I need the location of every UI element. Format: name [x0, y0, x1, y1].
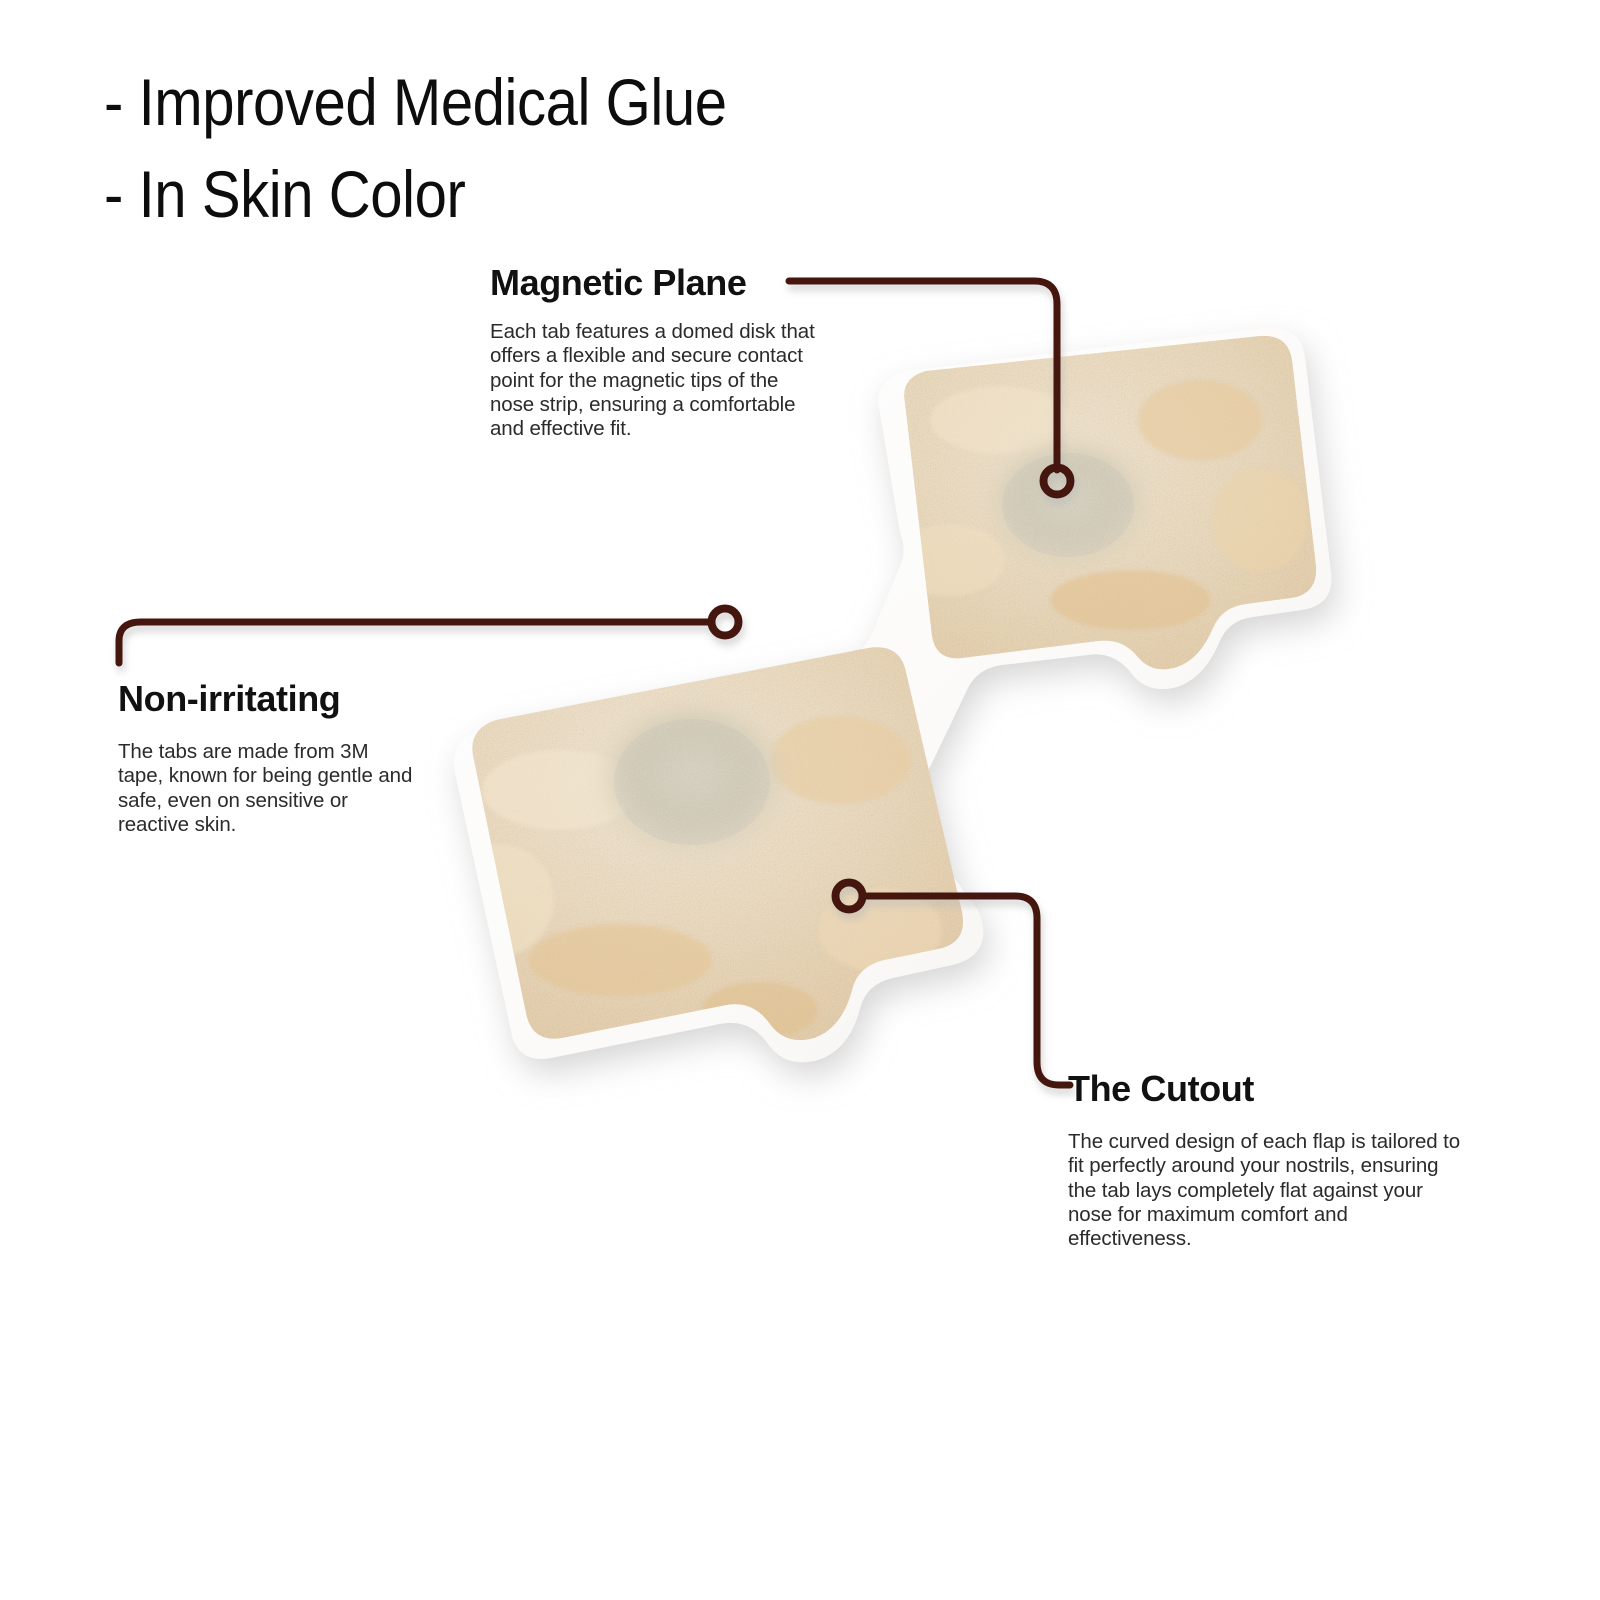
- lower-tab-pad: [440, 630, 1000, 1060]
- page-title: - Improved Medical Glue - In Skin Color: [104, 56, 727, 240]
- callout-title-non-irritating: Non-irritating: [118, 678, 418, 720]
- magnetic-plane-connector: [789, 281, 1071, 495]
- callout-magnetic-plane: Magnetic Plane Each tab features a domed…: [490, 262, 820, 441]
- callout-body-magnetic-plane: Each tab features a domed disk that offe…: [490, 320, 820, 441]
- the-cutout-connector: [836, 883, 1071, 1086]
- poster-canvas: - Improved Medical Glue - In Skin Color …: [0, 0, 1600, 1600]
- callout-body-non-irritating: The tabs are made from 3M tape, known fo…: [118, 740, 418, 837]
- callout-title-the-cutout: The Cutout: [1068, 1068, 1468, 1110]
- callout-the-cutout: The Cutout The curved design of each fla…: [1068, 1068, 1468, 1251]
- non-irritating-connector: [119, 609, 739, 664]
- callout-title-magnetic-plane: Magnetic Plane: [490, 262, 820, 304]
- callout-non-irritating: Non-irritating The tabs are made from 3M…: [118, 678, 418, 837]
- upper-magnetic-disk: [990, 442, 1146, 568]
- headline-line-1: - Improved Medical Glue: [104, 56, 727, 148]
- headline-line-2: - In Skin Color: [104, 148, 727, 240]
- callout-body-the-cutout: The curved design of each flap is tailor…: [1068, 1130, 1468, 1251]
- upper-tab-pad: [860, 310, 1360, 690]
- lower-magnetic-disk: [600, 706, 784, 858]
